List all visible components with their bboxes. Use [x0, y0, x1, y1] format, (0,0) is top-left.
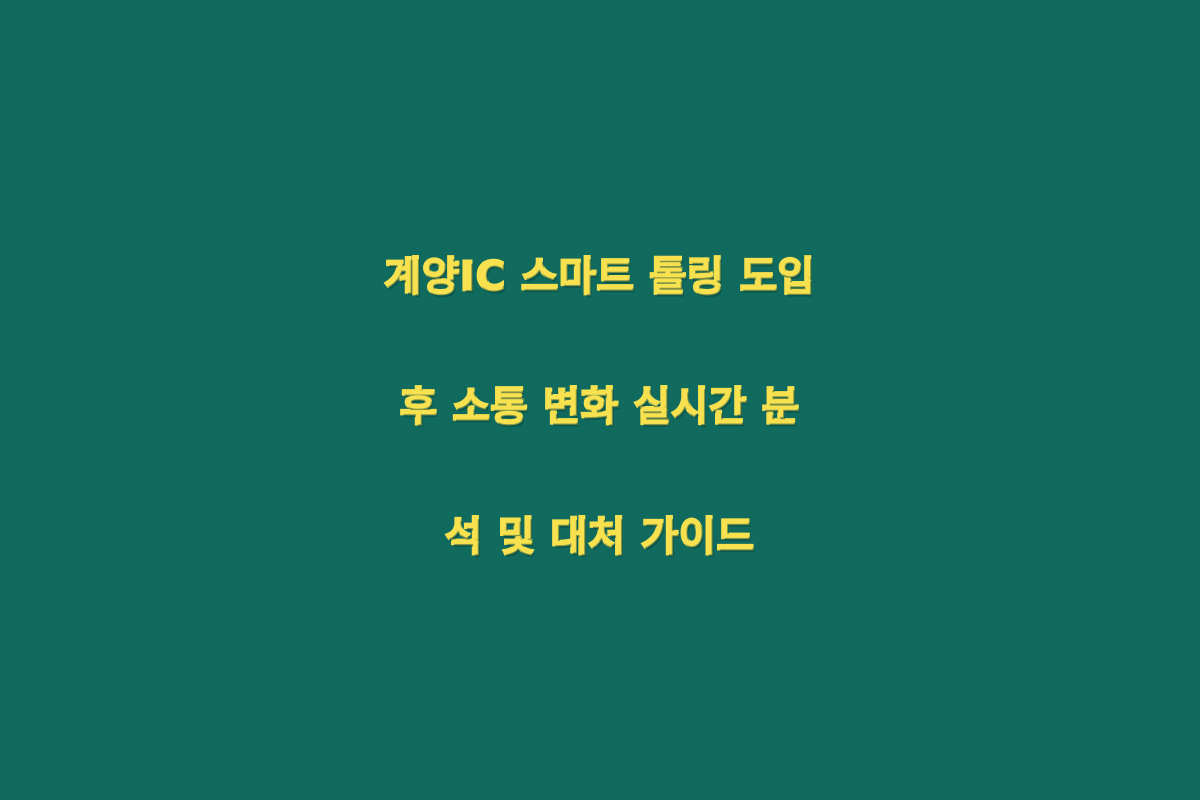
- headline-line-2: 후 소통 변화 실시간 분: [50, 342, 1150, 472]
- headline-line-1: 계양IC 스마트 톨링 도입: [50, 212, 1150, 342]
- headline-block: 계양IC 스마트 톨링 도입 후 소통 변화 실시간 분 석 및 대처 가이드: [50, 212, 1150, 602]
- headline-line-3: 석 및 대처 가이드: [50, 472, 1150, 602]
- title-card: 계양IC 스마트 톨링 도입 후 소통 변화 실시간 분 석 및 대처 가이드: [0, 0, 1200, 800]
